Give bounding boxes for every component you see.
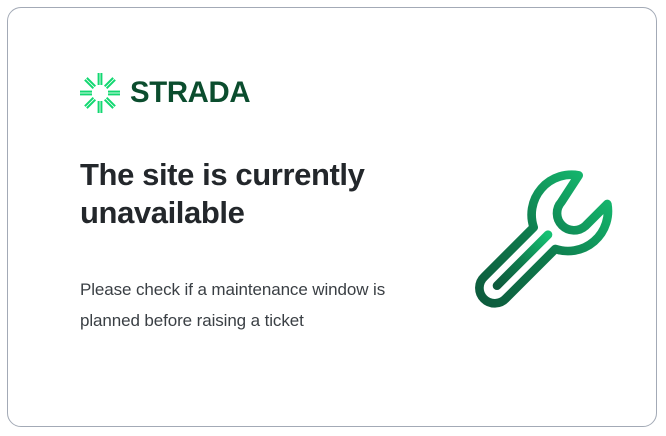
error-page: STRADA The site is currently unavailable… — [0, 0, 666, 436]
brand-logo: STRADA — [80, 73, 326, 113]
asterisk-snowflake-icon — [80, 73, 120, 113]
brand-wordmark: STRADA — [130, 78, 326, 108]
page-description: Please check if a maintenance window is … — [80, 274, 390, 336]
brand-wordmark-text: STRADA — [130, 78, 250, 108]
wrench-icon — [460, 158, 620, 318]
status-card: STRADA The site is currently unavailable… — [7, 7, 657, 427]
illustration — [460, 158, 620, 318]
content-column: STRADA The site is currently unavailable… — [80, 8, 440, 426]
page-title: The site is currently unavailable — [80, 156, 420, 232]
